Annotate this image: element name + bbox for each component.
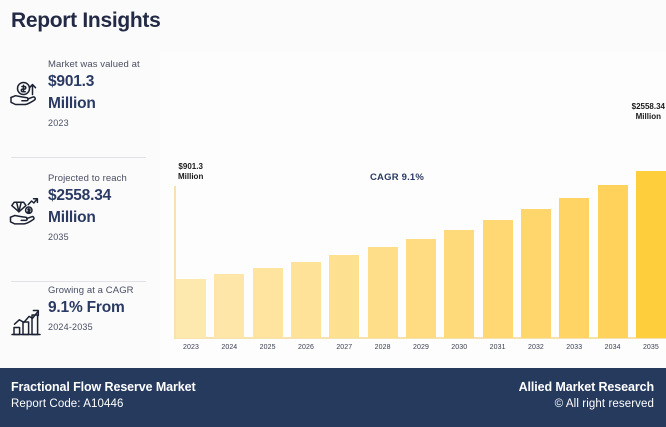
market-forecast-bar-chart: CAGR 9.1% 202320242025202620272028202920… — [160, 52, 666, 368]
stat-caption: Market was valued at — [48, 58, 160, 71]
bar-column — [483, 162, 513, 338]
x-tick-2023: 2023 — [176, 341, 206, 357]
footer-report-code: Report Code: A10446 — [11, 396, 196, 413]
stat-caption: Projected to reach — [48, 172, 160, 185]
bar-chart-arrow-icon — [6, 302, 46, 342]
report-insights-infographic: Report Insights Market was valued at $90… — [0, 0, 666, 427]
bar-2027 — [329, 255, 359, 338]
page-title: Report Insights — [11, 8, 161, 34]
bar-column — [636, 162, 666, 338]
bar-2032 — [521, 209, 551, 338]
bar-2028 — [368, 247, 398, 338]
x-tick-2027: 2027 — [329, 341, 359, 357]
stat-value-line2: Million — [48, 93, 160, 115]
bar-column — [176, 162, 206, 338]
bar-column — [406, 162, 436, 338]
bar-label-unit: Million — [632, 112, 665, 122]
stat-value-line2: Million — [48, 207, 160, 229]
stat-block-projected-value: Projected to reach $2558.34 Million 2035 — [0, 172, 160, 270]
bar-column — [329, 162, 359, 338]
chart-plot-area — [176, 162, 666, 338]
bar-2029 — [406, 239, 436, 338]
sidebar-divider — [11, 281, 146, 282]
bar-2030 — [444, 230, 474, 338]
x-tick-2032: 2032 — [521, 341, 551, 357]
footer-company-info: Allied Market Research © All right reser… — [519, 379, 654, 413]
x-tick-2030: 2030 — [444, 341, 474, 357]
bar-2025 — [253, 268, 283, 338]
bar-column — [598, 162, 628, 338]
bar-label-value: $901.3 — [178, 162, 203, 172]
hand-dollar-growth-icon — [6, 76, 46, 116]
bar-label-2023: $901.3 Million — [178, 162, 203, 182]
chart-x-axis-ticks: 2023202420252026202720282029203020312032… — [176, 341, 666, 357]
bar-label-2035: $2558.34 Million — [632, 102, 665, 122]
footer-report-info: Fractional Flow Reserve Market Report Co… — [11, 379, 196, 413]
x-tick-2033: 2033 — [559, 341, 589, 357]
bar-2026 — [291, 262, 321, 338]
stat-block-market-value: Market was valued at $901.3 Million 2023 — [0, 58, 160, 156]
footer-report-name: Fractional Flow Reserve Market — [11, 379, 196, 396]
bar-column — [253, 162, 283, 338]
stat-value-line1: $901.3 — [48, 71, 160, 93]
bar-column — [368, 162, 398, 338]
bar-2033 — [559, 198, 589, 338]
bar-2031 — [483, 220, 513, 338]
bar-2035 — [636, 171, 666, 338]
bar-column — [291, 162, 321, 338]
stat-value-line1: 9.1% From — [48, 297, 160, 319]
bar-label-value: $2558.34 — [632, 102, 665, 112]
bar-column — [444, 162, 474, 338]
x-tick-2029: 2029 — [406, 341, 436, 357]
x-tick-2028: 2028 — [368, 341, 398, 357]
bar-label-unit: Million — [178, 172, 203, 182]
footer: Fractional Flow Reserve Market Report Co… — [0, 368, 666, 427]
stat-caption: Growing at a CAGR — [48, 284, 160, 297]
stats-sidebar: Market was valued at $901.3 Million 2023 — [0, 52, 160, 368]
x-tick-2035: 2035 — [636, 341, 666, 357]
x-tick-2026: 2026 — [291, 341, 321, 357]
x-tick-2025: 2025 — [253, 341, 283, 357]
bar-column — [521, 162, 551, 338]
stat-sub: 2035 — [48, 230, 160, 244]
footer-copyright: © All right reserved — [519, 396, 654, 413]
bar-2023 — [176, 279, 206, 338]
bar-column — [559, 162, 589, 338]
bar-2034 — [598, 185, 628, 338]
bar-2024 — [214, 274, 244, 338]
stat-sub: 2024-2035 — [48, 320, 160, 334]
stat-sub: 2023 — [48, 116, 160, 130]
stat-value-line1: $2558.34 — [48, 185, 160, 207]
bar-column — [214, 162, 244, 338]
x-tick-2034: 2034 — [598, 341, 628, 357]
x-tick-2024: 2024 — [214, 341, 244, 357]
footer-company-name: Allied Market Research — [519, 379, 654, 396]
hand-diamond-growth-icon — [6, 190, 46, 230]
sidebar-divider — [11, 157, 146, 158]
x-tick-2031: 2031 — [483, 341, 513, 357]
